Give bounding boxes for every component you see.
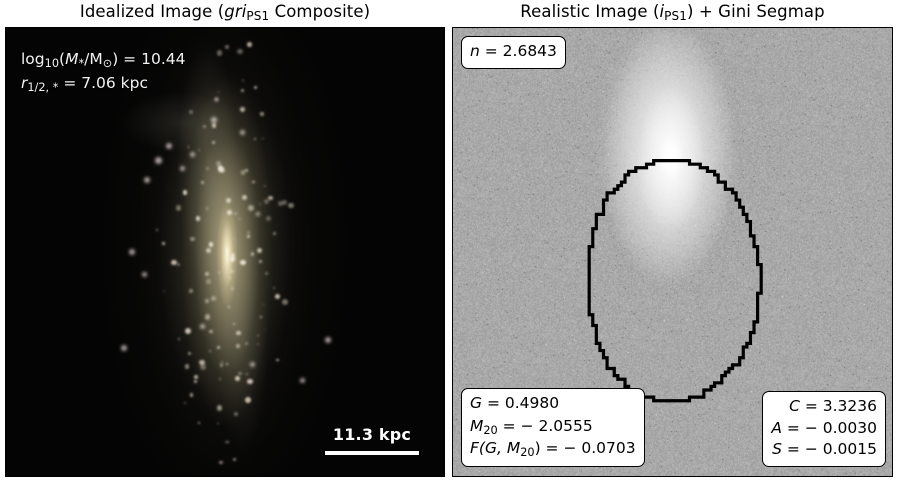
galaxy-properties-label: log10(M*/M⊙) = 10.44 r1/2, * = 7.06 kpc xyxy=(21,48,185,96)
left-panel-title: Idealized Image (griPS1 Composite) xyxy=(5,2,445,23)
asymmetry-value: − 0.0030 xyxy=(805,419,877,437)
log-label: log xyxy=(21,50,45,68)
star-knot xyxy=(219,461,222,464)
figure-root: Idealized Image (griPS1 Composite) Reali… xyxy=(0,0,900,484)
concentration-value: 3.3236 xyxy=(823,397,877,415)
right-title-suffix: ) + Gini Segmap xyxy=(687,2,825,21)
f-gini-m20-equals: ) = xyxy=(535,439,564,457)
star-knot-bright xyxy=(256,212,260,216)
star-knot-bright xyxy=(180,166,185,171)
star-knot xyxy=(205,299,209,303)
star-knot xyxy=(226,249,229,252)
star-knot xyxy=(237,49,242,54)
stellar-mass-line: log10(M*/M⊙) = 10.44 xyxy=(21,48,185,72)
smoothness-symbol: S xyxy=(772,440,782,458)
star-knot xyxy=(206,207,208,209)
star-knot xyxy=(251,252,254,255)
star-knot-bright xyxy=(121,345,127,351)
star-knot xyxy=(282,299,288,305)
star-knot xyxy=(219,378,221,380)
sersic-index-line: n = 2.6843 xyxy=(470,41,557,63)
star-knot xyxy=(268,196,272,200)
star-knot xyxy=(254,138,256,140)
sersic-symbol: n xyxy=(470,42,480,60)
star-knot xyxy=(218,166,224,172)
star-knot xyxy=(248,205,254,211)
star-knot xyxy=(260,112,264,116)
star-knot xyxy=(245,342,248,345)
star-knot xyxy=(240,107,245,112)
mass-symbol: M xyxy=(65,50,78,68)
star-knot xyxy=(288,203,293,208)
star-knot xyxy=(177,263,180,266)
sersic-value: 2.6843 xyxy=(503,42,557,60)
sersic-index-box: n = 2.6843 xyxy=(461,36,566,69)
star-knot xyxy=(156,229,158,231)
star-knot xyxy=(190,237,194,241)
star-knot xyxy=(221,361,223,363)
star-knot xyxy=(228,306,230,308)
star-knot xyxy=(162,242,164,244)
star-knot xyxy=(247,379,253,385)
star-knot xyxy=(185,364,190,369)
star-knot-bright xyxy=(129,249,135,255)
log-base: 10 xyxy=(45,57,59,70)
star-knot-bright xyxy=(200,324,205,329)
star-knot xyxy=(257,248,262,253)
star-knot xyxy=(238,372,242,376)
star-knot xyxy=(254,86,256,88)
stellar-mass-value: 10.44 xyxy=(141,50,185,68)
radius-unit: kpc xyxy=(116,74,148,92)
star-knot xyxy=(171,260,177,266)
star-knot-bright xyxy=(142,272,147,277)
f-gini-m20-value: − 0.0703 xyxy=(563,439,635,457)
star-knot xyxy=(265,272,267,274)
segmap-polygon xyxy=(589,161,761,401)
m20-line: M20 = − 2.0555 xyxy=(470,416,636,439)
star-knot xyxy=(198,422,200,424)
solar-subscript: ⊙ xyxy=(103,57,112,70)
star-knot xyxy=(200,364,206,370)
asymmetry-line: A = − 0.0030 xyxy=(771,418,877,440)
star-knot xyxy=(260,316,262,318)
star-knot xyxy=(247,231,250,234)
star-knot-bright xyxy=(325,337,331,343)
asymmetry-equals: = xyxy=(782,419,805,437)
realistic-image-panel: n = 2.6843 G = 0.4980 M20 = − 2.0555 F(G… xyxy=(452,27,893,477)
f-gini-m20-line: F(G, M20) = − 0.0703 xyxy=(470,438,636,461)
right-panel-title: Realistic Image (iPS1) + Gini Segmap xyxy=(452,2,893,23)
left-title-prefix: Idealized Image ( xyxy=(80,2,224,21)
left-title-suffix: Composite) xyxy=(269,2,370,21)
gini-symbol: G xyxy=(470,394,482,412)
f-gini-m20-subscript: 20 xyxy=(520,446,534,459)
star-knot xyxy=(183,190,187,194)
star-knot xyxy=(278,201,283,206)
f-gini-m20-symbol: F(G, M xyxy=(470,439,520,457)
right-title-subscript: PS1 xyxy=(664,9,687,23)
star-knot xyxy=(194,375,197,378)
star-knot xyxy=(209,330,212,333)
star-knot xyxy=(259,260,262,263)
star-knot xyxy=(240,260,246,266)
star-knot xyxy=(196,216,201,221)
star-knot xyxy=(257,343,259,345)
m20-subscript: 20 xyxy=(483,424,497,437)
smoothness-value: − 0.0015 xyxy=(805,440,877,458)
star-knot-bright xyxy=(300,378,305,383)
star-knot-bright xyxy=(190,152,195,157)
star-knot xyxy=(209,350,211,352)
gini-value: 0.4980 xyxy=(505,394,559,412)
scale-bar: 11.3 kpc xyxy=(308,425,436,455)
half-mass-radius-value: 7.06 xyxy=(81,74,116,92)
concentration-symbol: C xyxy=(789,397,800,415)
right-title-prefix: Realistic Image ( xyxy=(520,2,659,21)
idealized-image-panel: log10(M*/M⊙) = 10.44 r1/2, * = 7.06 kpc … xyxy=(5,27,445,477)
radius-subscript: 1/2, * xyxy=(27,81,58,94)
smoothness-equals: = xyxy=(782,440,805,458)
star-knot xyxy=(216,161,221,166)
m20-symbol: M xyxy=(470,417,483,435)
star-knot xyxy=(176,205,181,210)
m20-value: − 2.0555 xyxy=(521,417,593,435)
star-knot xyxy=(206,279,210,283)
cas-statistics-box: C = 3.3236 A = − 0.0030 S = − 0.0015 xyxy=(762,391,886,467)
star-knot-bright xyxy=(240,130,245,135)
concentration-equals: = xyxy=(800,397,823,415)
star-knot xyxy=(276,359,279,362)
sersic-equals: = xyxy=(480,42,503,60)
star-knot xyxy=(217,405,223,411)
star-knot xyxy=(217,50,222,55)
star-knot-bright xyxy=(166,143,172,149)
star-knot-bright xyxy=(155,157,162,164)
star-knot xyxy=(217,346,219,348)
scale-bar-label: 11.3 kpc xyxy=(308,425,436,444)
star-knot-bright xyxy=(144,177,150,183)
star-knot xyxy=(212,123,216,127)
star-knot-bright xyxy=(211,117,217,123)
star-knot xyxy=(205,314,210,319)
star-knot xyxy=(188,352,190,354)
star-knot xyxy=(252,181,254,183)
star-knot xyxy=(201,181,204,184)
gini-line: G = 0.4980 xyxy=(470,393,636,416)
smoothness-line: S = − 0.0015 xyxy=(771,439,877,461)
star-knot-bright xyxy=(250,362,255,367)
star-knot xyxy=(185,328,191,334)
star-knot xyxy=(275,294,280,299)
star-knot xyxy=(264,185,266,187)
star-knot xyxy=(241,170,245,174)
concentration-line: C = 3.3236 xyxy=(771,396,877,418)
left-title-subscript: PS1 xyxy=(246,9,269,23)
left-title-italic: gri xyxy=(224,2,246,21)
gini-equals: = xyxy=(482,394,505,412)
star-knot xyxy=(264,199,269,204)
star-knot xyxy=(235,376,240,381)
gini-m20-box: G = 0.4980 M20 = − 2.0555 F(G, M20) = − … xyxy=(461,388,645,467)
scale-bar-line xyxy=(325,451,419,455)
star-knot xyxy=(242,195,247,200)
solar-mass-symbol: M xyxy=(89,50,102,68)
asymmetry-symbol: A xyxy=(771,419,782,437)
star-knot xyxy=(218,91,220,93)
star-knot xyxy=(247,42,252,47)
star-knot xyxy=(190,393,193,396)
radius-equals: = xyxy=(58,74,81,92)
m20-equals: = xyxy=(498,417,521,435)
half-mass-radius-line: r1/2, * = 7.06 kpc xyxy=(21,72,185,96)
star-knot xyxy=(273,232,276,235)
mass-equals: = xyxy=(118,50,141,68)
